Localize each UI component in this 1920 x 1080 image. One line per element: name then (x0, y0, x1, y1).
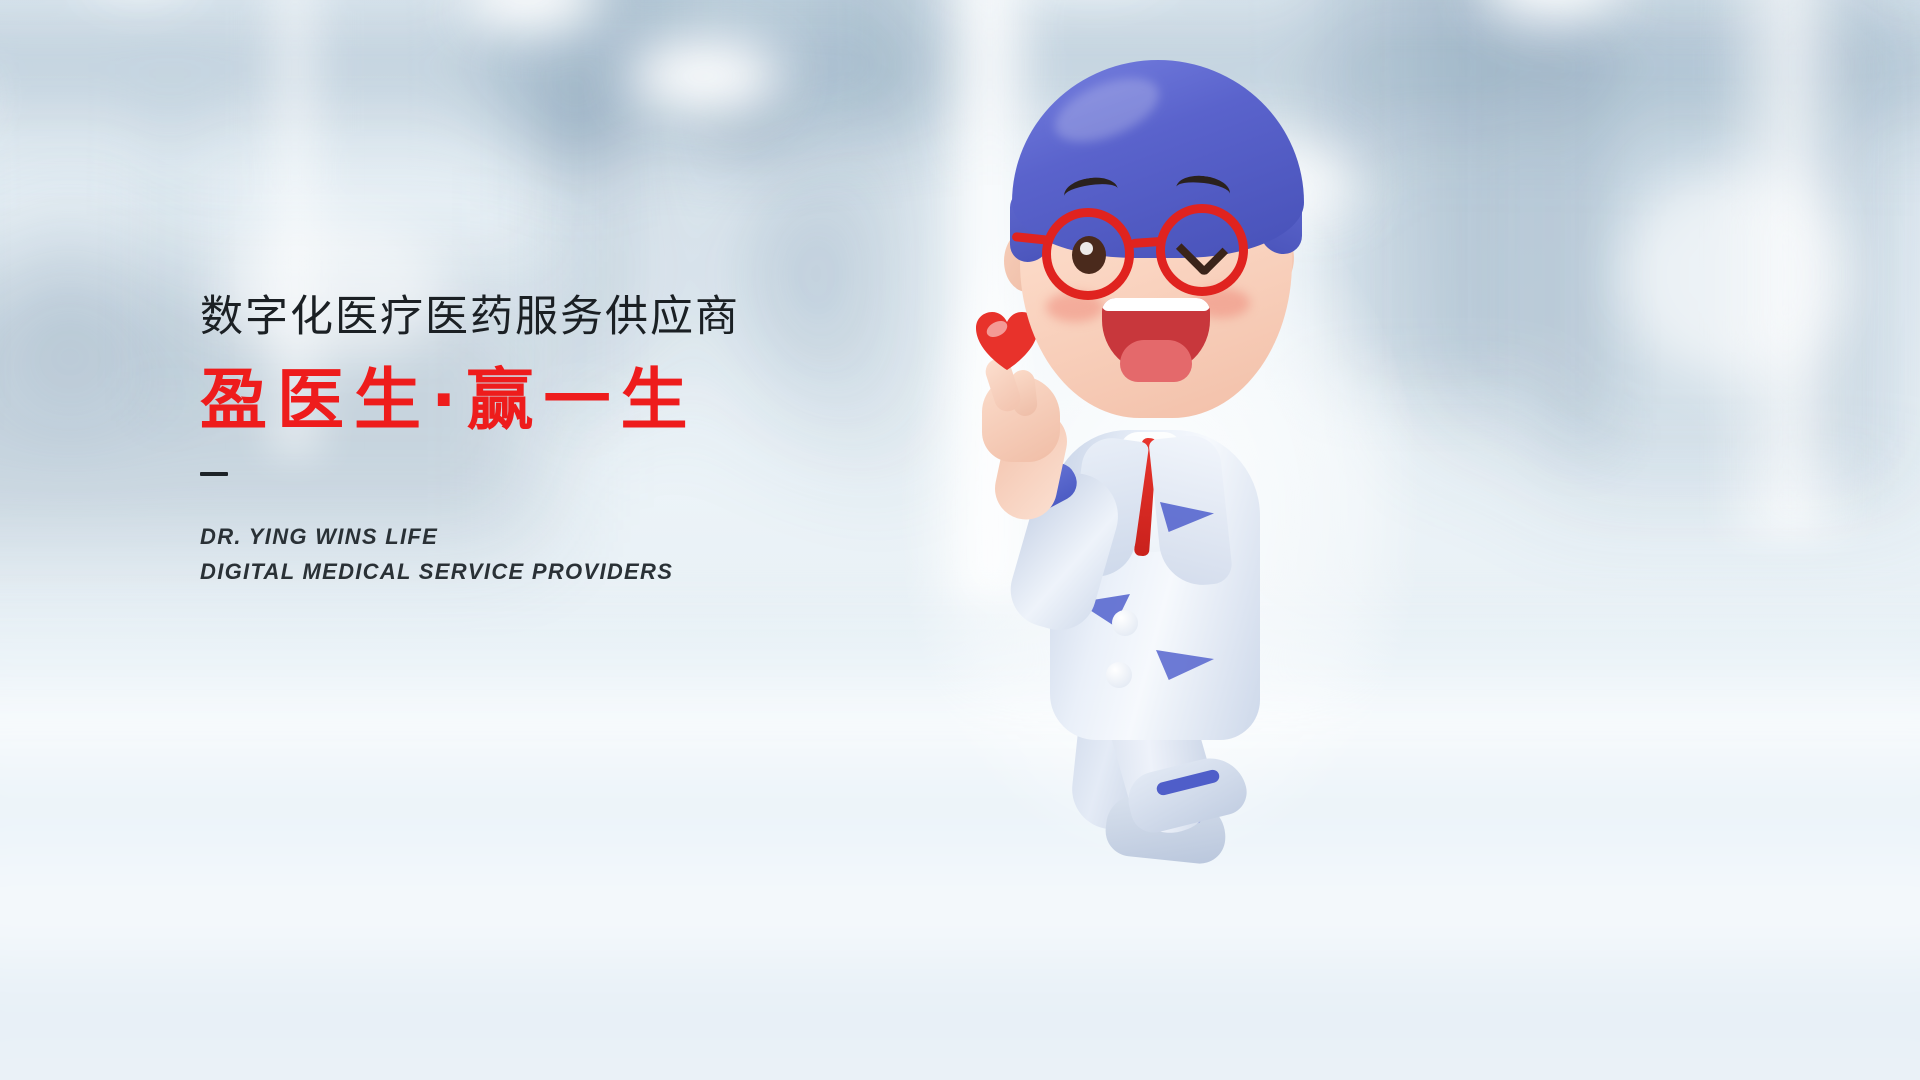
glasses-lens-left (1042, 208, 1134, 300)
coat-button-upper (1112, 610, 1138, 636)
slogan-text: 盈医生·赢一生 (200, 367, 740, 434)
coat-button-lower (1106, 662, 1132, 688)
glasses-lens-right (1156, 204, 1248, 296)
doctor-mascot-illustration (960, 40, 1380, 860)
teeth (1102, 298, 1210, 311)
hero-copy-block: 数字化医疗医药服务供应商 盈医生·赢一生 DR. YING WINS LIFE … (200, 296, 740, 590)
english-subtitle-line-1: DR. YING WINS LIFE (200, 520, 740, 555)
hero-banner: 数字化医疗医药服务供应商 盈医生·赢一生 DR. YING WINS LIFE … (0, 0, 1920, 1080)
tongue (1120, 340, 1192, 382)
english-subtitle-block: DR. YING WINS LIFE DIGITAL MEDICAL SERVI… (200, 520, 740, 590)
page-title: 数字化医疗医药服务供应商 (200, 296, 740, 339)
english-subtitle-line-2: DIGITAL MEDICAL SERVICE PROVIDERS (200, 555, 740, 590)
divider-dash (200, 472, 228, 476)
